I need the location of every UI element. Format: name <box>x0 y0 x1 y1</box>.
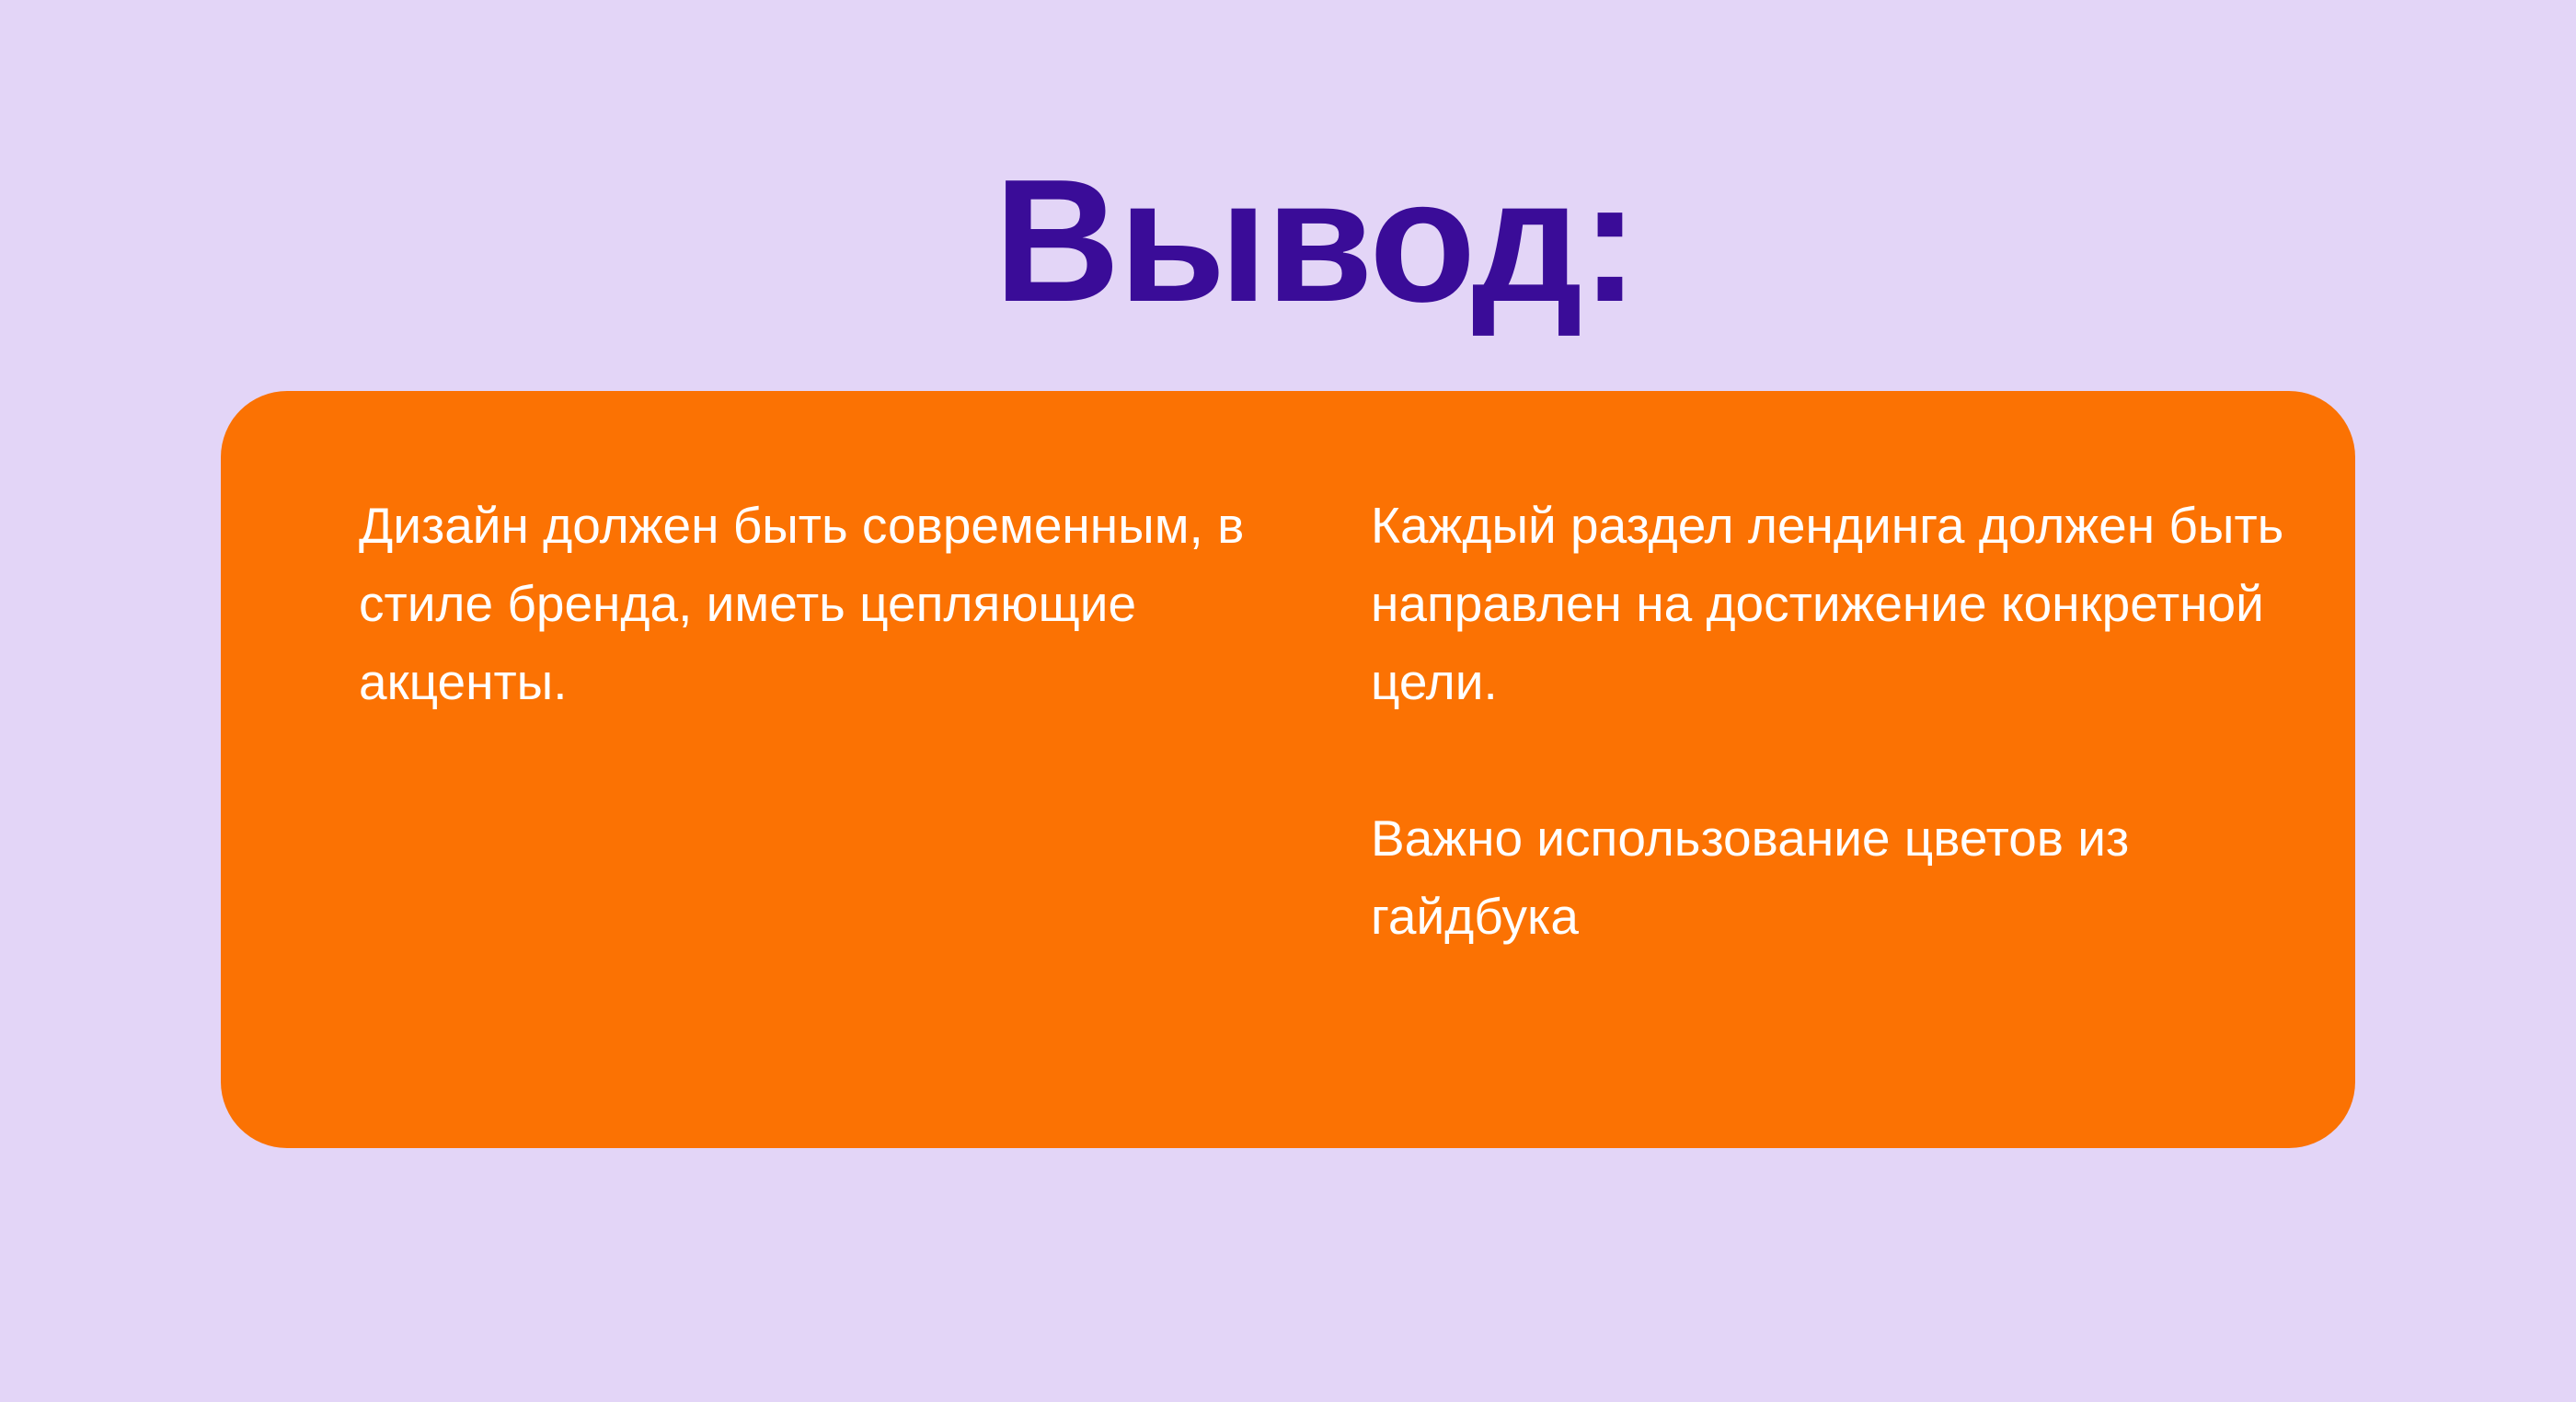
design-column-paragraph-1: Дизайн должен быть современным, в стиле … <box>359 487 1343 721</box>
sections-column: Каждый раздел лендинга должен быть напра… <box>1371 487 2355 956</box>
design-column: Дизайн должен быть современным, в стиле … <box>221 487 1371 721</box>
slide-canvas: Вывод: Дизайн должен быть современным, в… <box>0 0 2576 1402</box>
sections-column-paragraph-2: Важно использование цветов из гайдбука <box>1371 799 2318 956</box>
page-title: Вывод: <box>0 154 2576 328</box>
conclusion-card: Дизайн должен быть современным, в стиле … <box>221 391 2355 1148</box>
sections-column-paragraph-1: Каждый раздел лендинга должен быть напра… <box>1371 487 2318 721</box>
